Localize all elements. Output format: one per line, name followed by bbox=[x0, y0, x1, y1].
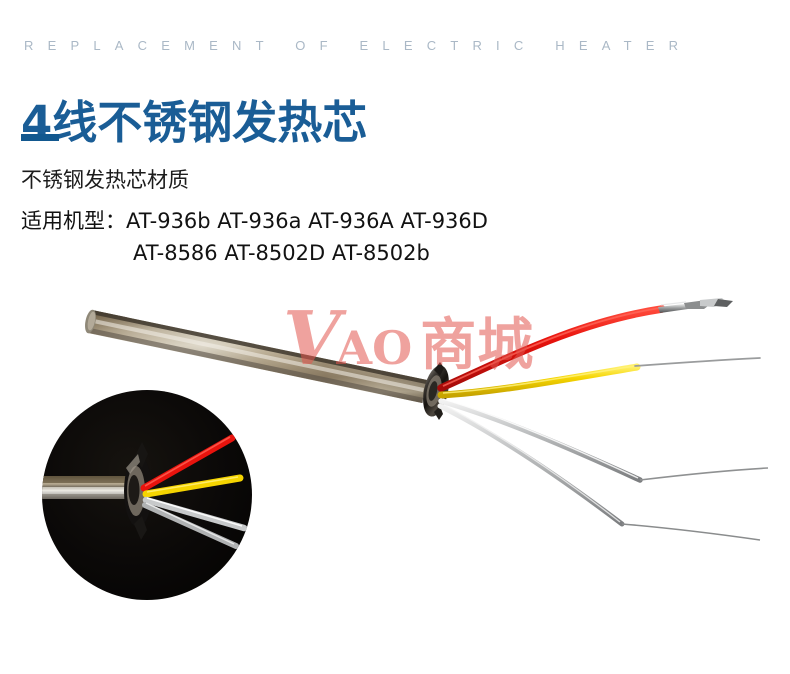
title-underline-bar bbox=[21, 134, 59, 141]
lead-wires bbox=[440, 298, 768, 540]
product-photo-svg bbox=[0, 278, 790, 618]
yellow-wire-bare-tail bbox=[635, 358, 760, 366]
product-photo bbox=[0, 278, 790, 618]
compatible-models-line-2: AT-8586 AT-8502D AT-8502b bbox=[21, 237, 488, 269]
eyebrow-text: REPLACEMENT OF ELECTRIC HEATER bbox=[24, 38, 692, 53]
silver-wire-lower-tail bbox=[622, 524, 760, 540]
compatible-models: 适用机型：AT-936b AT-936a AT-936A AT-936D AT-… bbox=[21, 205, 488, 269]
closeup-detail-circle bbox=[20, 390, 252, 600]
page-title: 4线不锈钢发热芯 bbox=[21, 98, 367, 148]
subtitle-material: 不锈钢发热芯材质 bbox=[21, 164, 189, 194]
compatible-models-line-1: 适用机型：AT-936b AT-936a AT-936A AT-936D bbox=[21, 205, 488, 237]
heating-core-rod bbox=[83, 309, 427, 403]
product-banner: REPLACEMENT OF ELECTRIC HEATER 4线不锈钢发热芯 … bbox=[0, 0, 790, 674]
silver-wire-lower bbox=[440, 406, 622, 524]
red-wire-crimp-terminal bbox=[658, 298, 733, 313]
silver-wire-upper-tail bbox=[640, 468, 768, 480]
red-wire bbox=[441, 309, 662, 388]
